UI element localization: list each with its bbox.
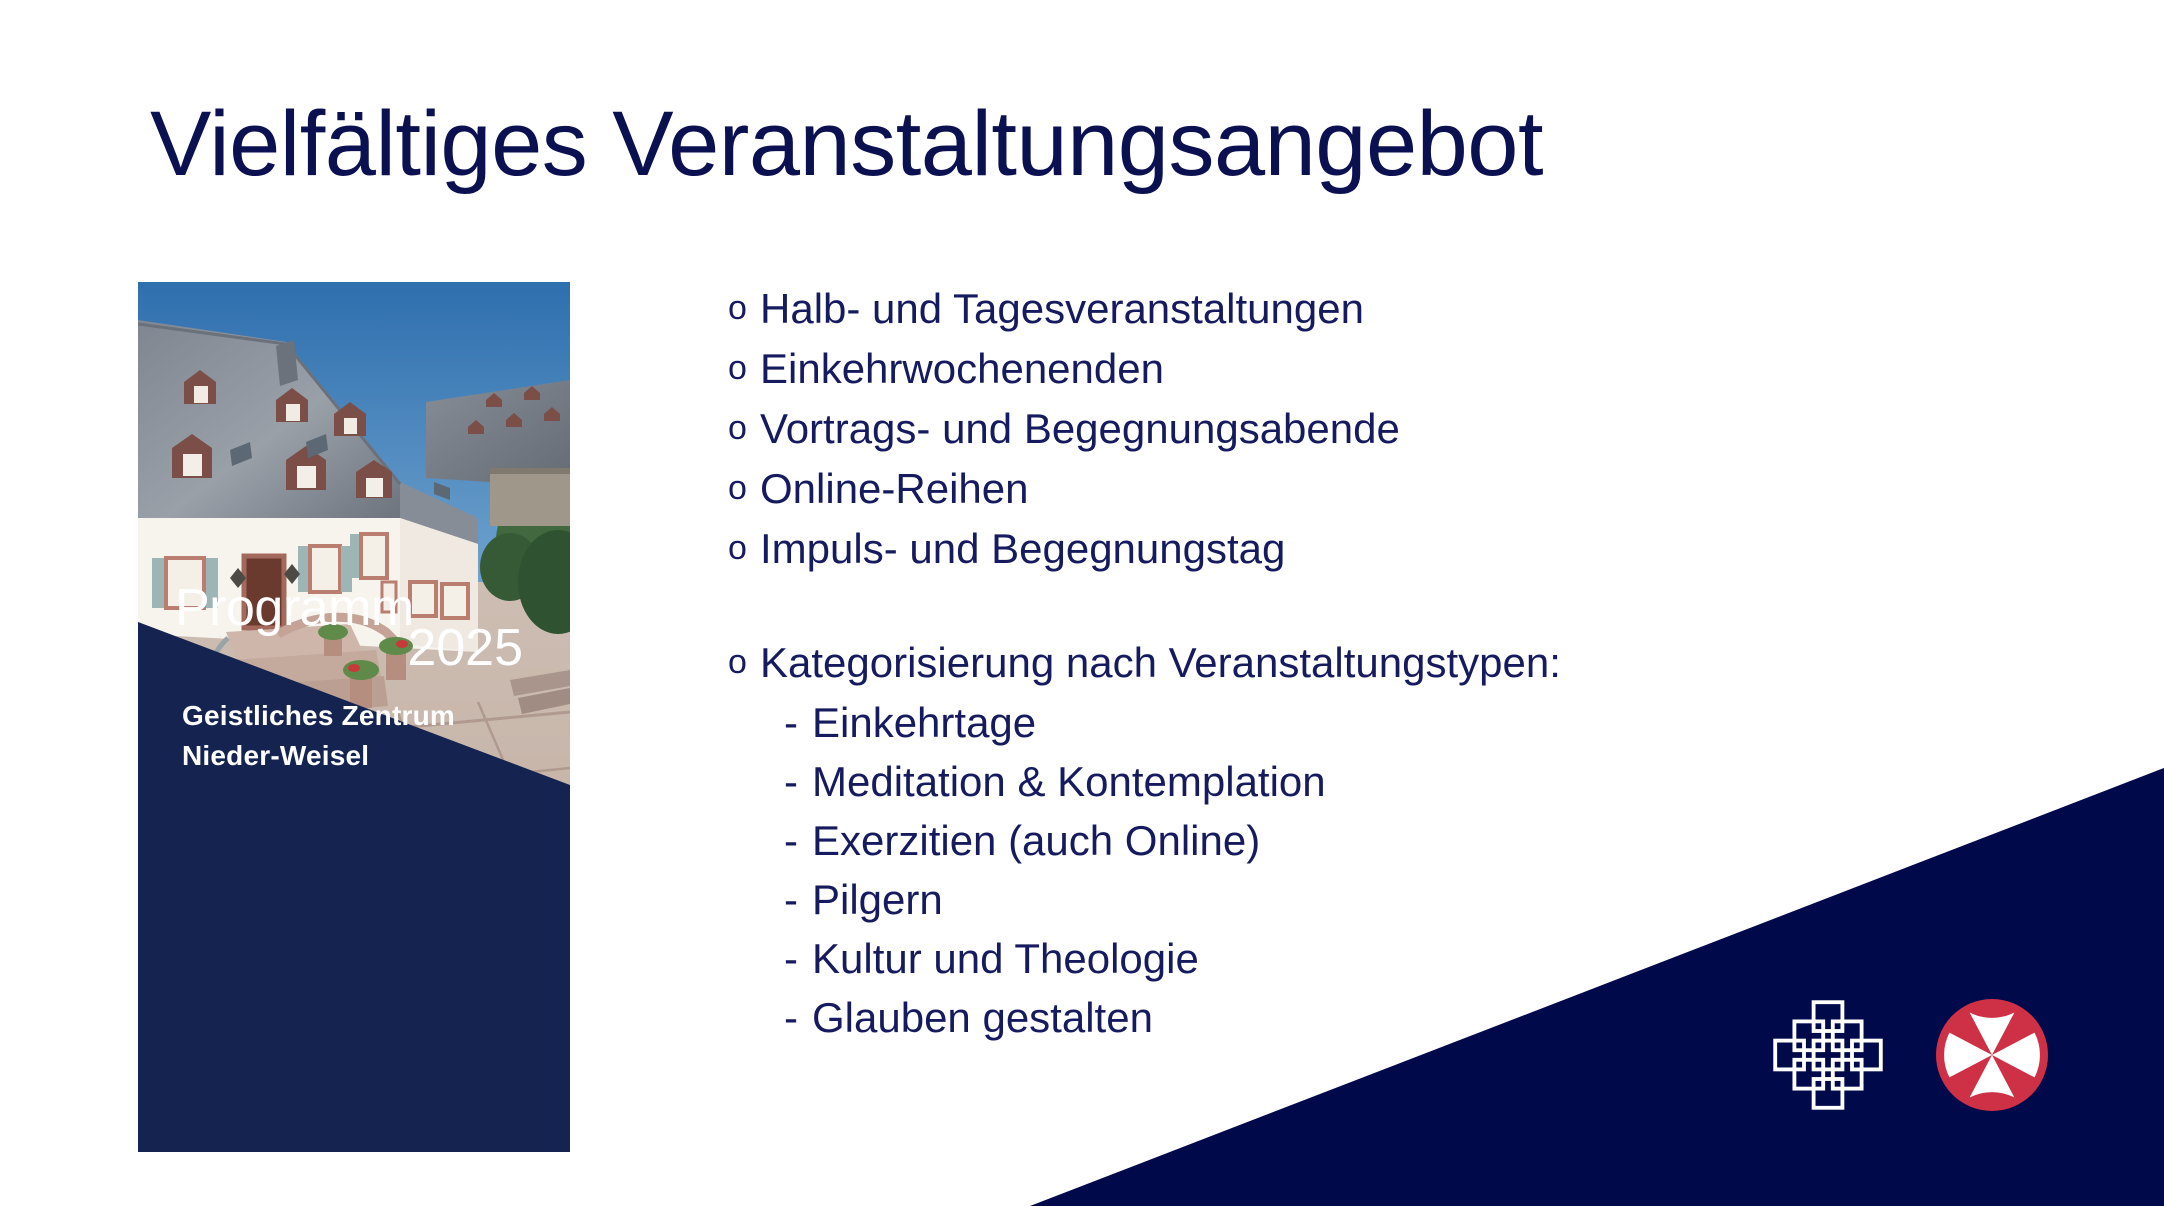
- sub-list-item: -Pilgern: [784, 879, 1928, 921]
- bullet-marker-icon: o: [728, 468, 760, 508]
- list-item: o Impuls- und Begegnungstag: [728, 528, 1928, 570]
- sub-list-item: -Einkehrtage: [784, 702, 1928, 744]
- sub-list-item-label: Einkehrtage: [812, 699, 1036, 746]
- list-item: o Halb- und Tagesveranstaltungen: [728, 288, 1928, 330]
- list-item-category-heading: o Kategorisierung nach Veranstaltungstyp…: [728, 642, 1928, 684]
- sub-list-item-label: Kultur und Theologie: [812, 935, 1199, 982]
- list-item-label: Vortrags- und Begegnungsabende: [760, 408, 1400, 450]
- category-heading-label: Kategorisierung nach Veranstaltungstypen…: [760, 642, 1561, 684]
- list-item: o Online-Reihen: [728, 468, 1928, 510]
- content-bullet-list: o Halb- und Tagesveranstaltungen o Einke…: [728, 288, 1928, 1056]
- bullet-marker-icon: o: [728, 528, 760, 568]
- slide-root: Vielfältiges Veranstaltungsangebot: [0, 0, 2164, 1206]
- brochure-subtitle-line-1: Geistliches Zentrum: [182, 700, 455, 732]
- brochure-subtitle-line-2: Nieder-Weisel: [182, 740, 369, 772]
- list-item-label: Online-Reihen: [760, 468, 1029, 510]
- jerusalem-cross-logo: [1768, 995, 1888, 1115]
- sub-list-item: -Glauben gestalten: [784, 997, 1928, 1039]
- bullet-marker-icon: o: [728, 288, 760, 328]
- maltese-cross-logo: [1936, 999, 2048, 1111]
- sub-list-item-label: Glauben gestalten: [812, 994, 1153, 1041]
- list-item-label: Halb- und Tagesveranstaltungen: [760, 288, 1364, 330]
- bullet-marker-icon: o: [728, 408, 760, 448]
- list-item-label: Einkehrwochenenden: [760, 348, 1164, 390]
- dash-marker-icon: -: [784, 820, 812, 862]
- sub-list-item-label: Exerzitien (auch Online): [812, 817, 1260, 864]
- dash-marker-icon: -: [784, 997, 812, 1039]
- page-title: Vielfältiges Veranstaltungsangebot: [150, 98, 2050, 190]
- bullet-marker-icon: o: [728, 642, 760, 682]
- list-spacer: [728, 588, 1928, 642]
- brochure-year: 2025: [175, 622, 523, 674]
- list-item: o Einkehrwochenenden: [728, 348, 1928, 390]
- sub-list-item: -Meditation & Kontemplation: [784, 761, 1928, 803]
- brochure-text-block: Programm 2025 Geistliches Zentrum Nieder…: [138, 282, 570, 1152]
- sub-list-item: -Exerzitien (auch Online): [784, 820, 1928, 862]
- sub-list-item-label: Pilgern: [812, 876, 943, 923]
- dash-marker-icon: -: [784, 761, 812, 803]
- list-item: o Vortrags- und Begegnungsabende: [728, 408, 1928, 450]
- bullet-marker-icon: o: [728, 348, 760, 388]
- brochure-cover-image: Programm 2025 Geistliches Zentrum Nieder…: [138, 282, 570, 1152]
- corner-logo-group: [1768, 995, 2048, 1115]
- sub-list-item-label: Meditation & Kontemplation: [812, 758, 1326, 805]
- dash-marker-icon: -: [784, 702, 812, 744]
- dash-marker-icon: -: [784, 938, 812, 980]
- sub-list-item: -Kultur und Theologie: [784, 938, 1928, 980]
- list-item-label: Impuls- und Begegnungstag: [760, 528, 1285, 570]
- dash-marker-icon: -: [784, 879, 812, 921]
